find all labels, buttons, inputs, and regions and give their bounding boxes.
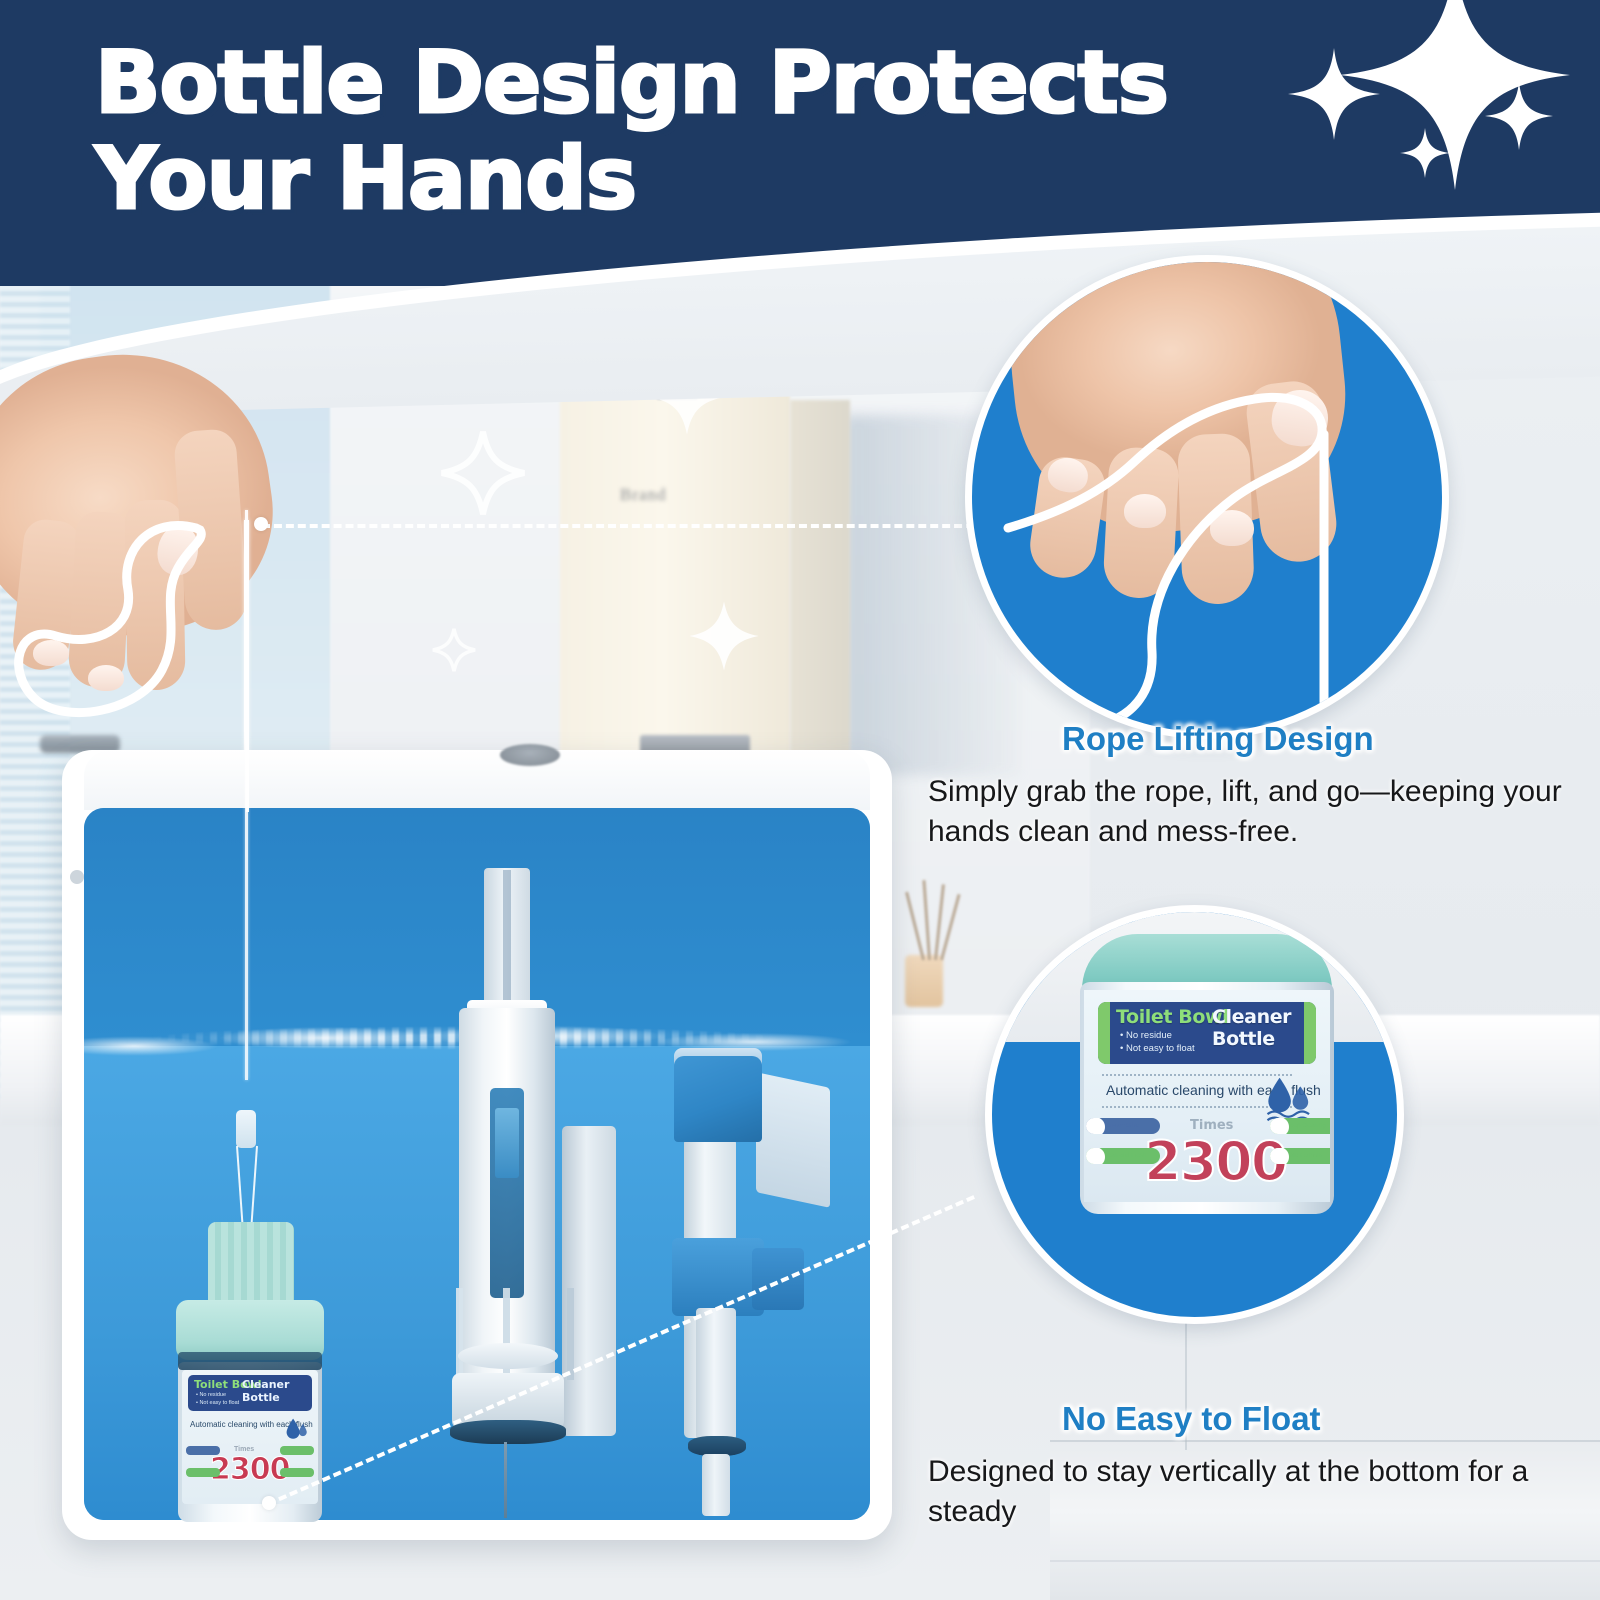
rope-in-inset [972, 322, 1442, 739]
page-title: Bottle Design Protects Your Hands [95, 40, 1275, 223]
fill-valve-clip [672, 1238, 764, 1316]
bottle-label-large: Toilet Bowl Cleaner Bottle • No residue … [1084, 990, 1330, 1202]
rope-in-tank [245, 510, 248, 1080]
section-body-no-easy-float: Designed to stay vertically at the botto… [928, 1452, 1588, 1531]
cabinet-brand-text: Brand [620, 485, 740, 507]
label-brand-part2: Cleaner Bottle [1212, 1006, 1330, 1050]
inset-bottle-detail: Toilet Bowl Cleaner Bottle • No residue … [985, 905, 1404, 1324]
tank-lid [84, 750, 870, 810]
tank-hinge [70, 870, 84, 884]
label-badge [280, 1446, 314, 1455]
section-title-rope-lifting: Rope Lifting Design [1062, 720, 1374, 758]
callout-line-top [262, 524, 974, 528]
fill-valve-arm [756, 1072, 830, 1208]
label-banner-accent-left [1098, 1002, 1110, 1064]
label-badge-text: Deep Cleaning [1286, 1123, 1326, 1129]
rope-bead [236, 1110, 256, 1148]
fill-valve-foot [702, 1454, 730, 1516]
flush-valve-stem-gap [503, 870, 511, 1015]
label-badge-text: Non-corrosive [1102, 1123, 1139, 1129]
fill-valve-head [674, 1056, 762, 1142]
label-bullet-2: • Not easy to float [1120, 1043, 1195, 1054]
badge-icon [1270, 1118, 1290, 1134]
badge-icon [1270, 1148, 1290, 1164]
tile-grout-line [1050, 1440, 1600, 1442]
label-bullet-1: • No residue [196, 1392, 226, 1398]
label-badge-text: Clean and Fresh [1102, 1153, 1146, 1159]
cleaner-bottle-large: Toilet Bowl Cleaner Bottle • No residue … [1054, 934, 1354, 1234]
label-brand-part2: Cleaner Bottle [242, 1378, 318, 1404]
tower-window-highlight [495, 1108, 519, 1178]
headline-line-1: Bottle Design Protects [95, 33, 1168, 133]
reed-diffuser-jar [905, 955, 943, 1007]
flush-valve-seal [450, 1420, 566, 1444]
label-badge [186, 1446, 220, 1455]
rope-loop [0, 440, 280, 730]
label-badge-text: Safe Formula [1286, 1153, 1322, 1159]
flush-valve-chain [504, 1442, 507, 1518]
label-badge-non-corrosive: Non-corrosive [1086, 1118, 1160, 1134]
water-drop-icon [284, 1416, 310, 1442]
cabinet-side-panel [790, 400, 850, 775]
label-badge [186, 1468, 220, 1477]
label-times-value: 2300 [1144, 1130, 1286, 1193]
bottle-label-small: Toilet Bowl Cleaner Bottle • No residue … [182, 1370, 318, 1504]
label-badge-deep-cleaning: Deep Cleaning [1270, 1118, 1330, 1134]
section-title-no-easy-float: No Easy to Float [1062, 1400, 1321, 1438]
callout-dot [262, 1496, 276, 1510]
label-bullet-2: • Not easy to float [196, 1400, 239, 1406]
bottle-neck-band [178, 1352, 322, 1370]
badge-icon [1086, 1148, 1106, 1164]
cleaner-bottle-in-tank: Toilet Bowl Cleaner Bottle • No residue … [152, 1222, 342, 1522]
inset-rope-lifting [965, 255, 1449, 739]
fill-valve-ring [688, 1436, 746, 1456]
section-body-rope-lifting: Simply grab the rope, lift, and go—keepi… [928, 772, 1588, 851]
overflow-tube [562, 1126, 616, 1436]
label-badge-safe-formula: Safe Formula [1270, 1148, 1330, 1164]
bottle-cap [176, 1300, 324, 1360]
label-badge [280, 1468, 314, 1477]
fill-valve-tube [696, 1308, 736, 1440]
label-bullet-1: • No residue [1120, 1030, 1172, 1041]
bathroom-cabinet [560, 390, 790, 780]
badge-icon [1086, 1118, 1106, 1134]
tile-grout-line [1050, 1560, 1600, 1562]
product-marketing-image: Brand Bottle Design Protects [0, 0, 1600, 1600]
label-times-value: 2300 [210, 1452, 290, 1487]
flush-button [500, 744, 560, 766]
label-badge-clean-fresh: Clean and Fresh [1086, 1148, 1160, 1164]
headline-line-2: Your Hands [95, 136, 1275, 224]
callout-dot [254, 517, 268, 531]
flush-valve-disc [458, 1343, 558, 1369]
